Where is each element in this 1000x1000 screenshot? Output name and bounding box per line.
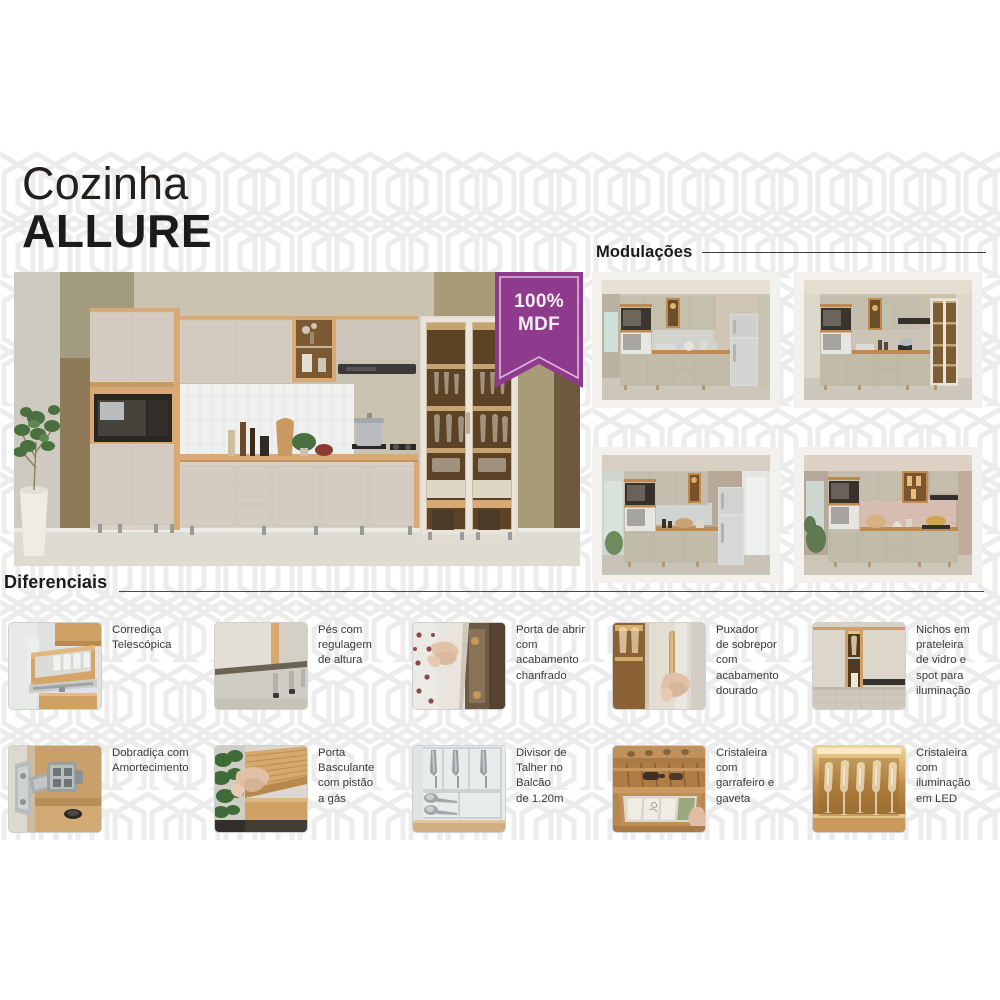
feature-label: Divisor de Talher no Balcão de 1.20m — [516, 745, 567, 807]
feature-label: Dobradiça com Amortecimento — [112, 745, 189, 776]
feature-thumb-porta-basculante-com-pistao-a-gas — [214, 745, 308, 833]
section-title-modulacoes: Modulações — [596, 243, 692, 262]
feature-thumb-puxador-de-sobrepor-com-acabamento-dourado — [612, 622, 706, 710]
feature-cristaleira-com-garrafeiro-e-gaveta[interactable]: Cristaleira com garrafeiro e gaveta — [612, 745, 774, 833]
feature-thumb-cristaleira-com-garrafeiro-e-gaveta — [612, 745, 706, 833]
modulacao-thumb-2[interactable] — [794, 272, 982, 408]
feature-nichos-em-prateleira-de-vidro-e-spot-para-iluminacao[interactable]: Nichos em prateleira de vidro e spot par… — [812, 622, 970, 710]
badge-100-mdf: 100% MDF — [495, 272, 583, 388]
feature-label: Porta de abrir com acabamento chanfrado — [516, 622, 585, 684]
modulacoes-gallery — [592, 272, 986, 570]
feature-label: Cristaleira com iluminação em LED — [916, 745, 970, 807]
feature-puxador-de-sobrepor-com-acabamento-dourado[interactable]: Puxador de sobrepor com acabamento doura… — [612, 622, 779, 710]
feature-thumb-pes-com-regulagem-de-altura — [214, 622, 308, 710]
feature-label: Pés com regulagem de altura — [318, 622, 372, 669]
section-title-diferenciais: Diferenciais — [4, 572, 107, 593]
page-title: Cozinha ALLURE — [22, 160, 212, 256]
feature-label: Puxador de sobrepor com acabamento doura… — [716, 622, 779, 699]
section-rule-modulacoes — [702, 252, 986, 253]
diferenciais-grid: Corrediça Telescópica — [0, 612, 1000, 840]
page-title-line1: Cozinha — [22, 160, 212, 208]
feature-thumb-corredica-telescopica — [8, 622, 102, 710]
modulacao-thumb-1[interactable] — [592, 272, 780, 408]
feature-thumb-nichos-em-prateleira-de-vidro-e-spot-para-iluminacao — [812, 622, 906, 710]
section-header-diferenciais: Diferenciais — [4, 572, 984, 593]
feature-label: Corrediça Telescópica — [112, 622, 172, 653]
feature-divisor-de-talher-no-balcao-de-120m[interactable]: Divisor de Talher no Balcão de 1.20m — [412, 745, 567, 833]
modulacao-thumb-4[interactable] — [794, 447, 982, 583]
feature-label: Cristaleira com garrafeiro e gaveta — [716, 745, 774, 807]
feature-porta-basculante-com-pistao-a-gas[interactable]: Porta Basculante com pistão a gás — [214, 745, 374, 833]
feature-thumb-dobradica-com-amortecimento — [8, 745, 102, 833]
feature-pes-com-regulagem-de-altura[interactable]: Pés com regulagem de altura — [214, 622, 372, 710]
feature-thumb-porta-de-abrir-com-acabamento-chanfrado — [412, 622, 506, 710]
feature-label: Nichos em prateleira de vidro e spot par… — [916, 622, 970, 699]
feature-cristaleira-com-iluminacao-em-led[interactable]: Cristaleira com iluminação em LED — [812, 745, 970, 833]
product-sheet-page: Cozinha ALLURE — [0, 0, 1000, 1000]
feature-label: Porta Basculante com pistão a gás — [318, 745, 374, 807]
feature-corredica-telescopica[interactable]: Corrediça Telescópica — [8, 622, 172, 710]
feature-porta-de-abrir-com-acabamento-chanfrado[interactable]: Porta de abrir com acabamento chanfrado — [412, 622, 585, 710]
page-title-line2: ALLURE — [22, 206, 212, 256]
section-rule-diferenciais — [119, 591, 984, 592]
modulacao-thumb-3[interactable] — [592, 447, 780, 583]
feature-dobradica-com-amortecimento[interactable]: Dobradiça com Amortecimento — [8, 745, 189, 833]
feature-thumb-cristaleira-com-iluminacao-em-led — [812, 745, 906, 833]
section-header-modulacoes: Modulações — [596, 243, 986, 262]
feature-thumb-divisor-de-talher-no-balcao-de-120m — [412, 745, 506, 833]
